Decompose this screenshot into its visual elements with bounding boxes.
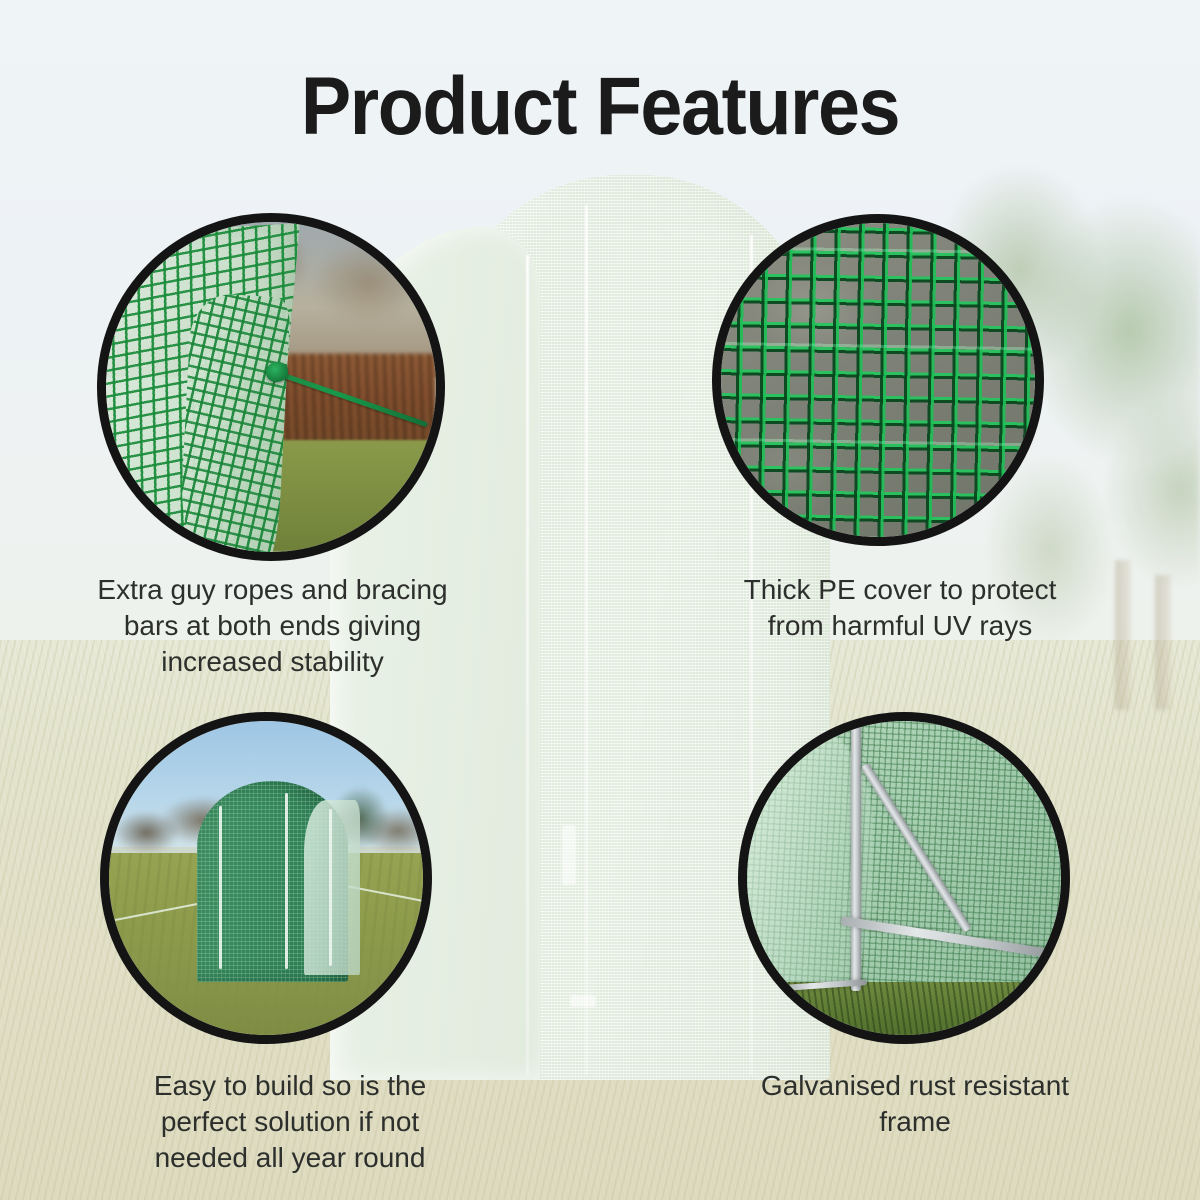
polytunnel-vent: [562, 825, 576, 885]
bubble-photo-guy-ropes: [106, 222, 436, 552]
polytunnel-vent: [570, 995, 596, 1007]
bubble-photo-easy-build: [109, 721, 423, 1035]
photo-greenhouse-side: [304, 800, 361, 976]
feature-image-pe-cover: [712, 214, 1044, 546]
photo-frame-upright-pole: [851, 721, 861, 991]
feature-caption-galvanised-frame: Galvanised rust resistant frame: [725, 1068, 1105, 1140]
feature-image-easy-build: [100, 712, 432, 1044]
photo-door-zip: [219, 806, 222, 969]
feature-image-guy-ropes: [97, 213, 445, 561]
photo-mesh-sheen: [721, 223, 1035, 537]
feature-caption-easy-build: Easy to build so is the perfect solution…: [95, 1068, 485, 1175]
feature-caption-pe-cover: Thick PE cover to protect from harmful U…: [700, 572, 1100, 644]
bubble-photo-galvanised-frame: [747, 721, 1061, 1035]
polytunnel-seam: [585, 205, 588, 1075]
page-title: Product Features: [48, 66, 1152, 148]
photo-cover-flap-mesh: [178, 292, 291, 552]
photo-door-zip: [329, 809, 332, 966]
feature-caption-guy-ropes: Extra guy ropes and bracing bars at both…: [55, 572, 490, 679]
polytunnel-seam: [526, 255, 529, 1075]
feature-image-galvanised-frame: [738, 712, 1070, 1044]
background-tree-trunk: [1155, 575, 1171, 710]
product-features-poster: Product Features Extra guy ropes and bra…: [0, 0, 1200, 1200]
background-tree-trunk: [1115, 560, 1131, 710]
bubble-photo-pe-cover: [721, 223, 1035, 537]
photo-door-zip: [285, 793, 288, 969]
